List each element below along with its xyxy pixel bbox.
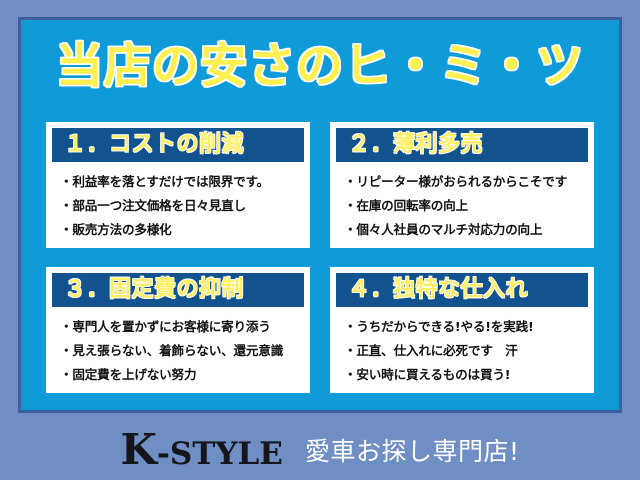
reason-card-1-title: １．コストの削減 [52, 128, 304, 162]
list-item: ・利益率を落とすだけでは限界です。 [60, 170, 302, 194]
list-item: ・販売方法の多様化 [60, 218, 302, 242]
list-item: ・在庫の回転率の向上 [344, 194, 586, 218]
reason-card-3-title: ３．固定費の抑制 [52, 273, 304, 307]
reason-card-2: ２．薄利多売 ・リピーター様がおられるからこそです ・在庫の回転率の向上 ・個々… [330, 122, 594, 248]
footer: K-STYLE 愛車お探し専門店! [0, 414, 640, 480]
reason-card-4-body: ・うちだからできる!やる!を実践! ・正直、仕入れに必死です 汗 ・安い時に買え… [336, 307, 588, 387]
list-item: ・リピーター様がおられるからこそです [344, 170, 586, 194]
list-item: ・正直、仕入れに必死です 汗 [344, 339, 586, 363]
main-panel: 当店の安さのヒ・ミ・ツ １．コストの削減 ・利益率を落とすだけでは限界です。 ・… [18, 17, 622, 413]
reason-card-1: １．コストの削減 ・利益率を落とすだけでは限界です。 ・部品一つ注文価格を日々見… [46, 122, 310, 248]
brand-initial: K [121, 425, 158, 474]
brand-logo: K-STYLE [121, 425, 283, 474]
list-item: ・個々人社員のマルチ対応力の向上 [344, 218, 586, 242]
list-item: ・安い時に買えるものは買う! [344, 363, 586, 387]
page-title: 当店の安さのヒ・ミ・ツ [26, 37, 614, 97]
reason-card-1-body: ・利益率を落とすだけでは限界です。 ・部品一つ注文価格を日々見直し ・販売方法の… [52, 162, 304, 242]
reasons-grid: １．コストの削減 ・利益率を落とすだけでは限界です。 ・部品一つ注文価格を日々見… [46, 122, 594, 393]
list-item: ・見え張らない、着飾らない、還元意識 [60, 339, 302, 363]
promo-poster: 当店の安さのヒ・ミ・ツ １．コストの削減 ・利益率を落とすだけでは限界です。 ・… [0, 0, 640, 480]
list-item: ・専門人を置かずにお客様に寄り添う [60, 315, 302, 339]
brand-name: -STYLE [157, 436, 283, 472]
reason-card-3-body: ・専門人を置かずにお客様に寄り添う ・見え張らない、着飾らない、還元意識 ・固定… [52, 307, 304, 387]
reason-card-2-body: ・リピーター様がおられるからこそです ・在庫の回転率の向上 ・個々人社員のマルチ… [336, 162, 588, 242]
footer-tagline: 愛車お探し専門店! [305, 432, 520, 468]
list-item: ・固定費を上げない努力 [60, 363, 302, 387]
reason-card-2-title: ２．薄利多売 [336, 128, 588, 162]
list-item: ・部品一つ注文価格を日々見直し [60, 194, 302, 218]
reason-card-4-title: ４．独特な仕入れ [336, 273, 588, 307]
reason-card-4: ４．独特な仕入れ ・うちだからできる!やる!を実践! ・正直、仕入れに必死です … [330, 267, 594, 393]
list-item: ・うちだからできる!やる!を実践! [344, 315, 586, 339]
main-panel-inner: 当店の安さのヒ・ミ・ツ １．コストの削減 ・利益率を落とすだけでは限界です。 ・… [26, 25, 614, 405]
reason-card-3: ３．固定費の抑制 ・専門人を置かずにお客様に寄り添う ・見え張らない、着飾らない… [46, 267, 310, 393]
